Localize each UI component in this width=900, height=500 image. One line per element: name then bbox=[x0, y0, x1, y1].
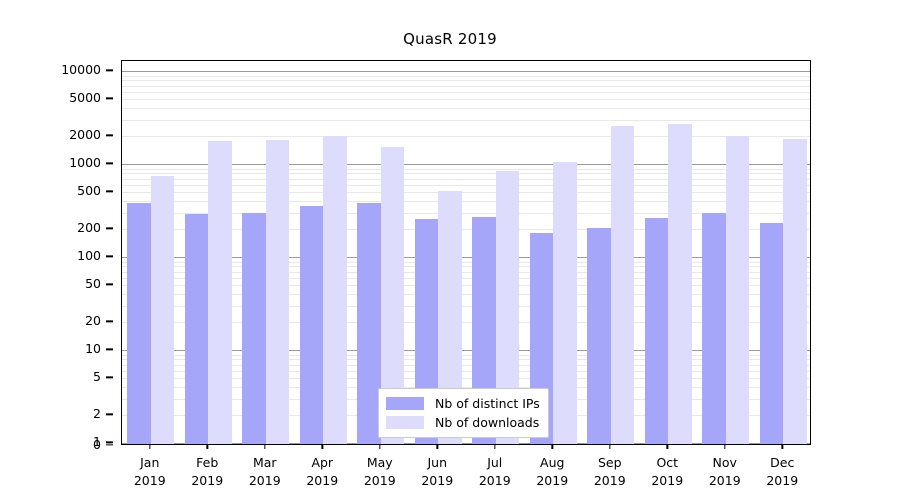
x-tick-year: 2019 bbox=[421, 472, 453, 490]
bar-aug-downloads bbox=[553, 162, 577, 445]
x-tick-mark bbox=[264, 445, 265, 449]
y-tick-mark bbox=[106, 191, 113, 192]
x-tick-year: 2019 bbox=[249, 472, 281, 490]
y-tick-label: 20 bbox=[85, 315, 101, 328]
gridline-minor bbox=[122, 80, 810, 81]
bar-nov-downloads bbox=[726, 136, 750, 445]
bar-oct-downloads bbox=[668, 124, 692, 445]
x-tick-month: Mar bbox=[249, 454, 281, 472]
x-tick-mark bbox=[437, 445, 438, 449]
x-tick-mark bbox=[379, 445, 380, 449]
y-tick-label: 10 bbox=[85, 343, 101, 356]
legend-item: Nb of downloads bbox=[386, 413, 540, 432]
bar-mar-downloads bbox=[266, 140, 290, 445]
x-tick-mark bbox=[494, 445, 495, 449]
x-tick-month: Sep bbox=[594, 454, 626, 472]
y-tick-label: 50 bbox=[85, 278, 101, 291]
x-tick-label-mar: Mar2019 bbox=[249, 454, 281, 490]
y-axis: 012510205010020050010002000500010000 bbox=[0, 60, 113, 445]
x-tick-mark bbox=[552, 445, 553, 449]
bar-apr-distinct-ips bbox=[300, 206, 324, 445]
y-tick-label: 1 bbox=[93, 436, 101, 449]
x-tick-label-jun: Jun2019 bbox=[421, 454, 453, 490]
x-tick-year: 2019 bbox=[594, 472, 626, 490]
x-tick-label-oct: Oct2019 bbox=[651, 454, 683, 490]
x-tick-month: Jan bbox=[134, 454, 166, 472]
gridline-minor bbox=[122, 99, 810, 100]
x-tick-month: Aug bbox=[536, 454, 568, 472]
x-tick-label-apr: Apr2019 bbox=[306, 454, 338, 490]
x-tick-month: May bbox=[364, 454, 396, 472]
bar-jan-distinct-ips bbox=[127, 203, 151, 445]
x-tick-mark bbox=[322, 445, 323, 449]
bar-feb-downloads bbox=[208, 141, 232, 445]
y-tick-mark bbox=[106, 414, 113, 415]
x-tick-month: Feb bbox=[191, 454, 223, 472]
y-tick-mark bbox=[106, 444, 113, 445]
y-tick-label: 500 bbox=[77, 185, 101, 198]
x-tick-year: 2019 bbox=[766, 472, 798, 490]
legend-label: Nb of distinct IPs bbox=[435, 396, 540, 411]
gridline-minor bbox=[122, 136, 810, 137]
legend-label: Nb of downloads bbox=[435, 415, 539, 430]
gridline-major bbox=[122, 71, 810, 72]
x-tick-year: 2019 bbox=[191, 472, 223, 490]
y-tick-mark bbox=[106, 284, 113, 285]
x-tick-month: Apr bbox=[306, 454, 338, 472]
y-tick-mark bbox=[106, 321, 113, 322]
y-tick-mark bbox=[106, 442, 113, 443]
x-tick-month: Oct bbox=[651, 454, 683, 472]
y-tick-mark bbox=[106, 98, 113, 99]
y-tick-mark bbox=[106, 135, 113, 136]
x-tick-label-sep: Sep2019 bbox=[594, 454, 626, 490]
y-tick-mark bbox=[106, 256, 113, 257]
x-tick-year: 2019 bbox=[479, 472, 511, 490]
x-tick-year: 2019 bbox=[651, 472, 683, 490]
x-tick-month: Dec bbox=[766, 454, 798, 472]
gridline-minor bbox=[122, 108, 810, 109]
legend-item: Nb of distinct IPs bbox=[386, 394, 540, 413]
bar-mar-distinct-ips bbox=[242, 213, 266, 445]
x-tick-year: 2019 bbox=[306, 472, 338, 490]
x-tick-year: 2019 bbox=[134, 472, 166, 490]
x-tick-month: Nov bbox=[709, 454, 741, 472]
y-tick-label: 2 bbox=[93, 408, 101, 421]
gridline-minor bbox=[122, 92, 810, 93]
bar-feb-distinct-ips bbox=[185, 214, 209, 445]
x-tick-label-dec: Dec2019 bbox=[766, 454, 798, 490]
y-tick-label: 1000 bbox=[69, 157, 101, 170]
x-tick-label-jan: Jan2019 bbox=[134, 454, 166, 490]
x-tick-mark bbox=[149, 445, 150, 449]
legend-swatch-icon bbox=[386, 416, 424, 429]
chart-title: QuasR 2019 bbox=[0, 30, 900, 48]
x-tick-year: 2019 bbox=[709, 472, 741, 490]
chart-legend: Nb of distinct IPsNb of downloads bbox=[378, 388, 549, 438]
y-tick-mark bbox=[106, 349, 113, 350]
x-tick-mark bbox=[724, 445, 725, 449]
x-tick-month: Jun bbox=[421, 454, 453, 472]
gridline-minor bbox=[122, 120, 810, 121]
y-tick-label: 5 bbox=[93, 371, 101, 384]
y-tick-mark bbox=[106, 70, 113, 71]
bar-dec-downloads bbox=[783, 139, 807, 445]
y-tick-label: 100 bbox=[77, 250, 101, 263]
y-tick-label: 5000 bbox=[69, 92, 101, 105]
x-tick-mark bbox=[667, 445, 668, 449]
x-axis: Jan2019Feb2019Mar2019Apr2019May2019Jun20… bbox=[121, 445, 811, 500]
bar-dec-distinct-ips bbox=[760, 223, 784, 445]
bar-oct-distinct-ips bbox=[645, 218, 669, 445]
y-tick-mark bbox=[106, 163, 113, 164]
gridline-minor bbox=[122, 86, 810, 87]
bar-sep-distinct-ips bbox=[587, 228, 611, 445]
x-tick-label-aug: Aug2019 bbox=[536, 454, 568, 490]
legend-swatch-icon bbox=[386, 397, 424, 410]
x-tick-label-may: May2019 bbox=[364, 454, 396, 490]
x-tick-year: 2019 bbox=[536, 472, 568, 490]
x-tick-label-jul: Jul2019 bbox=[479, 454, 511, 490]
y-tick-mark bbox=[106, 228, 113, 229]
x-tick-month: Jul bbox=[479, 454, 511, 472]
y-tick-label: 200 bbox=[77, 222, 101, 235]
x-tick-year: 2019 bbox=[364, 472, 396, 490]
bar-jan-downloads bbox=[151, 176, 175, 445]
bar-sep-downloads bbox=[611, 126, 635, 445]
x-tick-mark bbox=[782, 445, 783, 449]
x-tick-label-nov: Nov2019 bbox=[709, 454, 741, 490]
bar-nov-distinct-ips bbox=[702, 213, 726, 445]
x-tick-label-feb: Feb2019 bbox=[191, 454, 223, 490]
bar-apr-downloads bbox=[323, 136, 347, 445]
y-tick-label: 10000 bbox=[61, 64, 101, 77]
x-tick-mark bbox=[609, 445, 610, 449]
gridline-minor bbox=[122, 76, 810, 77]
chart-figure: QuasR 2019 01251020501002005001000200050… bbox=[0, 0, 900, 500]
y-tick-label: 2000 bbox=[69, 129, 101, 142]
x-tick-mark bbox=[207, 445, 208, 449]
y-tick-mark bbox=[106, 377, 113, 378]
